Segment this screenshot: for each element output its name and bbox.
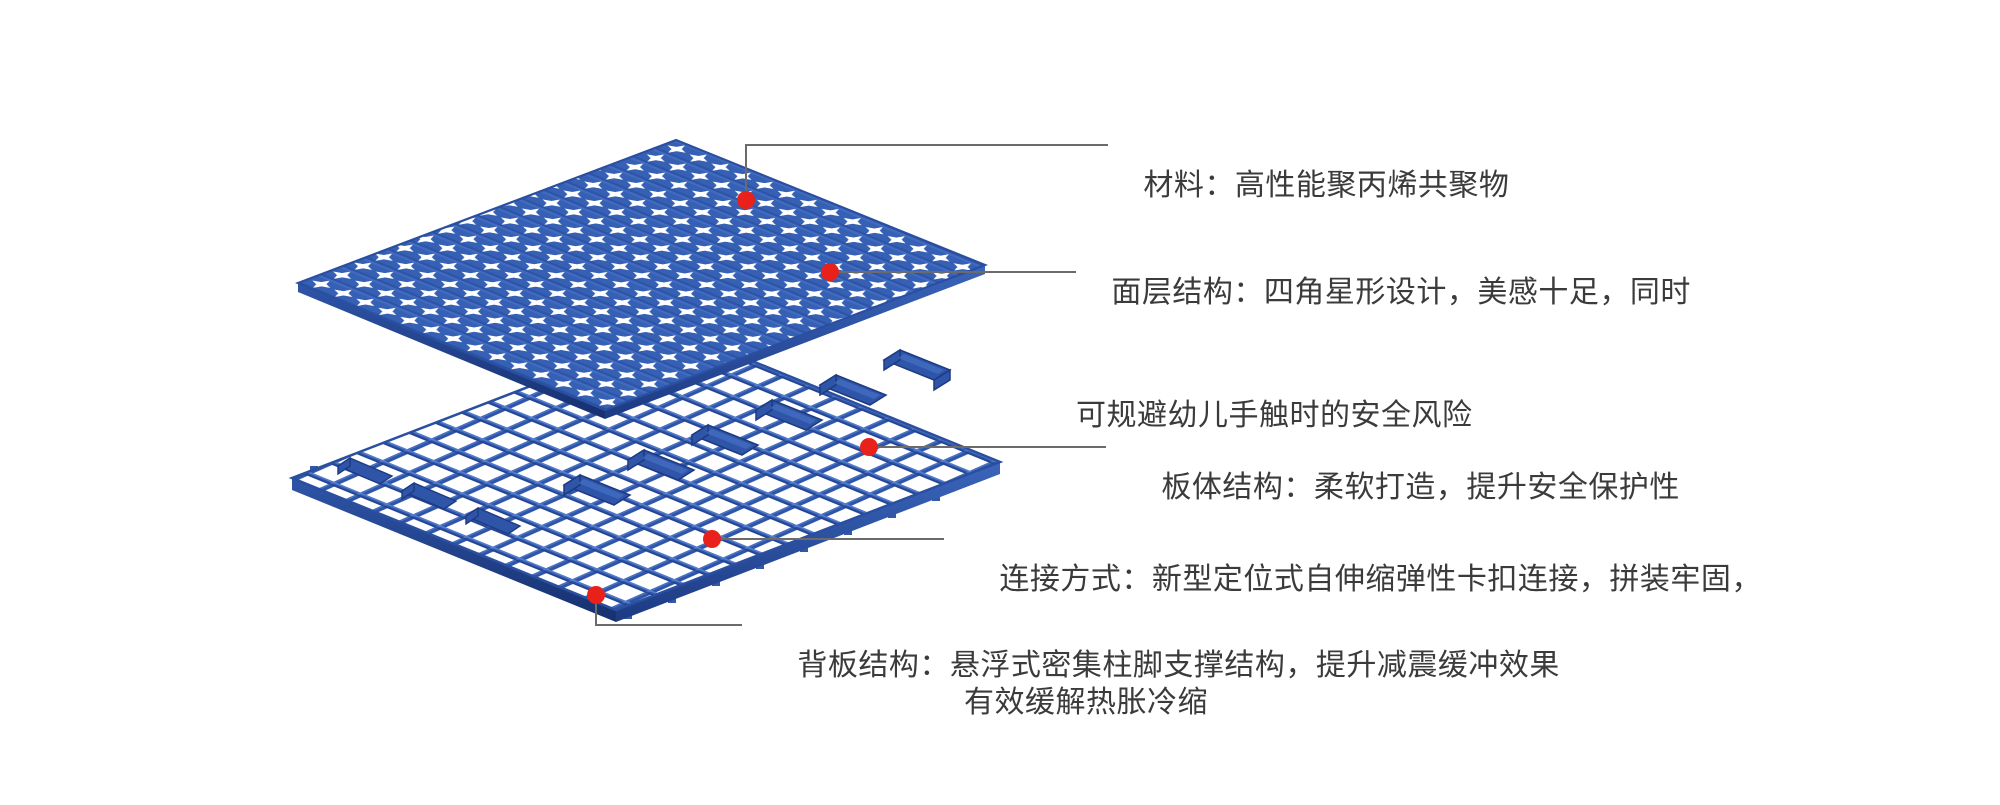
marker-dot-connection-method[interactable] [703,530,721,548]
annotation-material-line1: 材料：高性能聚丙烯共聚物 [1143,169,1509,202]
marker-dot-panel-structure[interactable] [860,438,878,456]
marker-dot-surface-structure[interactable] [821,263,839,281]
annotation-panel-structure-line1: 板体结构：柔软打造，提升安全保护性 [1161,471,1680,504]
marker-dot-back-structure[interactable] [587,586,605,604]
annotation-back-structure-line1: 背板结构：悬浮式密集柱脚支撑结构，提升减震缓冲效果 [797,649,1560,682]
diagram-canvas: 材料：高性能聚丙烯共聚物 面层结构：四角星形设计，美感十足，同时 可规避幼儿手触… [0,0,2000,761]
marker-dot-material[interactable] [737,191,755,209]
annotation-connection-method-line1: 连接方式：新型定位式自伸缩弹性卡扣连接，拼装牢固， [999,563,1762,596]
annotation-back-structure: 背板结构：悬浮式密集柱脚支撑结构，提升减震缓冲效果 [762,604,1560,727]
annotation-surface-structure-line1: 面层结构：四角星形设计，美感十足，同时 [1111,276,1691,309]
annotation-material: 材料：高性能聚丙烯共聚物 [1108,124,1509,247]
